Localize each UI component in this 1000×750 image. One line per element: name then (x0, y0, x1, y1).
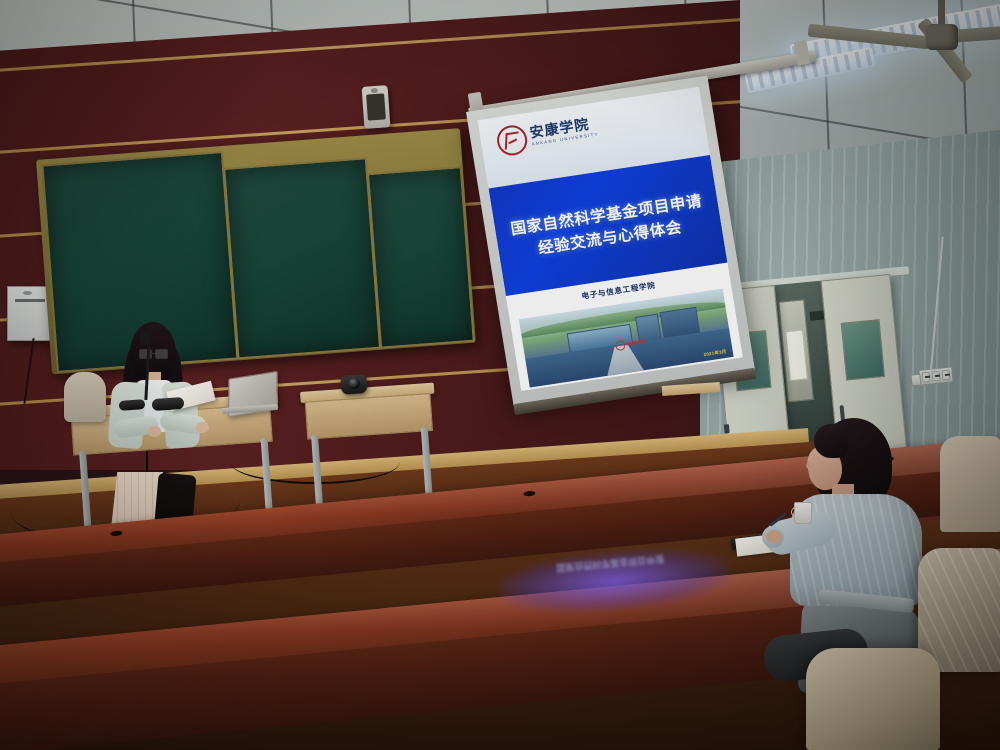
control-box-label (23, 291, 32, 295)
blackboard-panel (223, 157, 381, 359)
cup-handle-icon (791, 507, 798, 517)
hand (766, 530, 782, 543)
hand-right (196, 422, 209, 433)
microphone-capsule (140, 332, 149, 345)
fan-hub (926, 24, 958, 50)
university-logo: 安康学院 ANKANG UNIVERSITY (495, 112, 600, 157)
eyeglasses (139, 349, 168, 358)
camera-lens-icon (349, 378, 361, 390)
projection-surface: 安康学院 ANKANG UNIVERSITY 国家自然科学基金项目申请 经验交流… (466, 76, 755, 407)
paper-cup[interactable] (794, 502, 812, 524)
microphone-base[interactable] (152, 397, 185, 411)
blazer-left (108, 381, 147, 449)
hand-left (148, 426, 161, 437)
wall-speaker (362, 85, 391, 129)
presenter-chair[interactable] (64, 372, 106, 422)
blackboard-panel (367, 166, 475, 349)
ankang-university-emblem-icon (495, 123, 529, 157)
control-box-slot (15, 299, 45, 302)
ptz-video-camera (340, 374, 367, 395)
nose (806, 462, 814, 469)
speaker-grille (366, 93, 386, 120)
blackboard (36, 128, 476, 374)
watermark-ring-icon (614, 340, 625, 351)
speaker-led (371, 88, 378, 93)
hair-fringe (814, 424, 848, 458)
lecture-hall-photo: 安康学院 ANKANG UNIVERSITY 国家自然科学基金项目申请 经验交流… (0, 0, 1000, 750)
photo-caption: 安康学院 (626, 339, 646, 348)
door-window (841, 319, 885, 380)
audience-chair-foreground[interactable] (806, 648, 940, 750)
projection-screen: 安康学院 ANKANG UNIVERSITY 国家自然科学基金项目申请 经验交流… (466, 76, 755, 407)
presentation-slide: 安康学院 ANKANG UNIVERSITY 国家自然科学基金项目申请 经验交流… (477, 87, 742, 391)
microphone-base[interactable] (119, 399, 146, 411)
door-hinge (724, 424, 730, 433)
